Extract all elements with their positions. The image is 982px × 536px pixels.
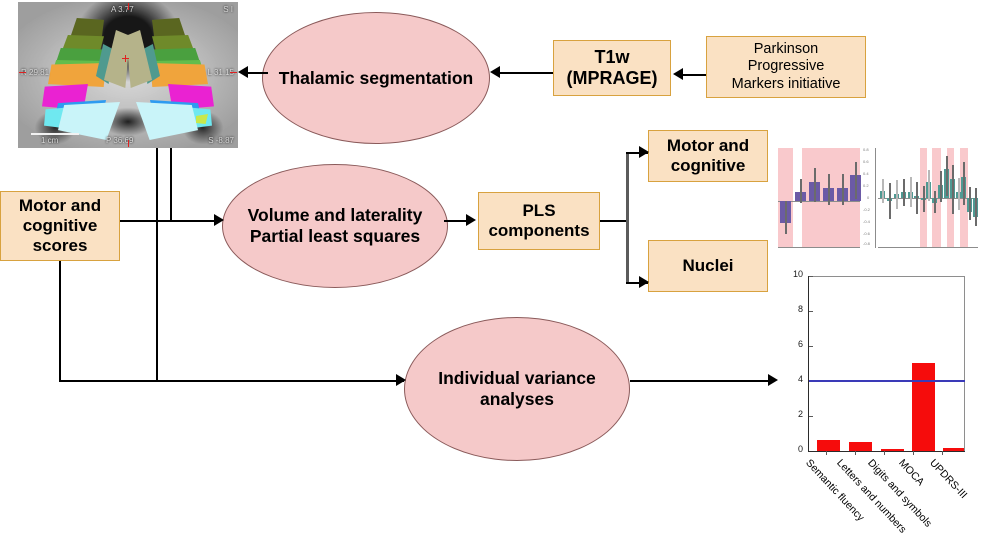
y-tick-label: 6 [783, 339, 803, 349]
ppmi-line-3: Markers initiative [732, 76, 841, 93]
pls-line-1: PLS [488, 201, 589, 221]
variance-bar [912, 363, 935, 451]
error-bar [800, 179, 802, 203]
iva-line-2: analyses [438, 389, 596, 410]
y-tick-mark [809, 276, 813, 277]
arrow-ppmi-to-t1w-line [683, 74, 706, 76]
variance-bar [817, 440, 840, 451]
y-tick-label: -0.8 [863, 241, 870, 246]
y-tick-mark [809, 346, 813, 347]
brain-crosshair-tick [230, 72, 237, 73]
chart-pls-motor-cognitive-loadings [778, 148, 860, 248]
error-bar [946, 156, 948, 196]
mac-line-2: cognitive [667, 156, 749, 176]
y-tick-label: 0.6 [863, 159, 869, 164]
brain-crosshair-marker [125, 55, 126, 62]
arrow-ppmi-to-t1w-head [673, 68, 683, 80]
connector-brain-drop-left [156, 148, 158, 380]
arrow-t1w-to-segmentation-line [500, 72, 553, 74]
nuclei-label: Nuclei [682, 256, 733, 276]
chart-pls-nuclei-loadings: 0.8 0.6 0.4 0.2 0 -0.2 -0.4 -0.6 -0.8 [862, 148, 980, 248]
brain-label-anterior: A 3.77 [111, 5, 134, 14]
workflow-diagram: A 3.77 S I R 29.81 L 31.15 P 36.69 S -8.… [0, 0, 982, 529]
error-bar [842, 174, 844, 205]
error-bar [910, 177, 912, 207]
arrow-scores-to-variance-head [396, 374, 406, 386]
connector-components-split-vertical [626, 152, 629, 283]
error-bar [975, 188, 977, 226]
x-tick-mark [942, 451, 943, 455]
y-tick-label: -0.6 [863, 231, 870, 236]
error-bar [958, 178, 960, 210]
error-bar [923, 186, 925, 212]
arrow-scores-to-pls-line [120, 220, 220, 222]
y-tick-label: 10 [783, 269, 803, 279]
t1w-line-2: (MPRAGE) [567, 68, 658, 89]
node-volume-laterality-pls[interactable]: Volume and laterality Partial least squa… [222, 164, 448, 288]
x-tick-mark [913, 451, 914, 455]
mcs-line-3: scores [19, 236, 101, 256]
arrow-segmentation-to-brain-head [238, 66, 248, 78]
error-bar [934, 191, 936, 213]
mcs-line-2: cognitive [19, 216, 101, 236]
connector-brain-drop-right [170, 148, 172, 221]
vl-line-1: Volume and laterality [248, 205, 423, 226]
mac-line-1: Motor and [667, 136, 749, 156]
x-tick-mark [855, 451, 856, 455]
variance-bar [849, 442, 872, 451]
arrow-variance-to-plot-line [630, 380, 774, 382]
y-tick-label: -0.2 [863, 207, 870, 212]
x-tick-label: MOCA [896, 457, 926, 488]
node-t1w-mprage[interactable]: T1w (MPRAGE) [553, 40, 671, 96]
error-bar [828, 174, 830, 205]
connector-scores-to-variance [59, 380, 404, 382]
y-tick-label: 0 [867, 195, 869, 200]
connector-scores-down [59, 261, 61, 381]
arrow-pls-to-components-head [466, 214, 476, 226]
brain-scale-bar [31, 133, 79, 135]
vl-line-2: Partial least squares [248, 226, 423, 247]
error-bar [814, 168, 816, 202]
x-axis [778, 247, 860, 248]
arrow-t1w-to-segmentation-head [490, 66, 500, 78]
node-thalamic-segmentation[interactable]: Thalamic segmentation [262, 12, 490, 144]
x-tick-mark [826, 451, 827, 455]
error-bar [963, 162, 965, 205]
error-bar [952, 165, 954, 214]
x-tick-label: UPDRS-III [927, 457, 969, 501]
pls-line-2: components [488, 221, 589, 241]
y-tick-label: 0.8 [863, 147, 869, 152]
node-motor-cognitive-scores[interactable]: Motor and cognitive scores [0, 191, 120, 261]
brain-segmentation-image: A 3.77 S I R 29.81 L 31.15 P 36.69 S -8.… [18, 2, 238, 148]
error-bar [928, 170, 930, 201]
x-tick-mark [884, 451, 885, 455]
plot-frame [809, 276, 965, 451]
y-axis [875, 148, 876, 248]
x-axis [878, 247, 978, 248]
error-bar [855, 162, 857, 199]
error-bar [916, 182, 918, 214]
chart-individual-variance-scores: 10 8 6 4 2 0 [808, 276, 965, 452]
variance-bar [881, 449, 904, 451]
connector-components-stem [600, 220, 627, 222]
y-tick-mark [809, 416, 813, 417]
ppmi-line-1: Parkinson [732, 41, 841, 58]
node-individual-variance-analyses[interactable]: Individual variance analyses [404, 317, 630, 461]
arrow-to-nuclei-head [639, 276, 649, 288]
brain-crosshair-tick [128, 3, 129, 10]
thalamic-segmentation-label: Thalamic segmentation [279, 68, 474, 89]
t1w-line-1: T1w [567, 47, 658, 68]
arrow-variance-to-plot-head [768, 374, 778, 386]
y-tick-label: 0 [783, 444, 803, 454]
error-bar [896, 180, 898, 209]
y-tick-label: 0.2 [863, 183, 869, 188]
brain-crosshair-tick [19, 72, 26, 73]
node-motor-and-cognitive[interactable]: Motor and cognitive [648, 130, 768, 182]
variance-bar [943, 448, 964, 451]
error-bar [903, 179, 905, 206]
arrow-scores-to-pls-head [214, 214, 224, 226]
brain-label-scale: 1 cm [41, 136, 58, 145]
error-bar [785, 201, 787, 234]
brain-label-slice: S -8.87 [208, 136, 234, 145]
brain-crosshair-tick [128, 140, 129, 147]
y-tick-label: 2 [783, 409, 803, 419]
significance-threshold-line [809, 380, 965, 382]
error-bar [969, 187, 971, 220]
y-tick-label: 8 [783, 304, 803, 314]
y-tick-label: -0.4 [863, 219, 870, 224]
mcs-line-1: Motor and [19, 196, 101, 216]
node-nuclei[interactable]: Nuclei [648, 240, 768, 292]
error-bar [882, 179, 884, 203]
arrow-to-motor-cognitive-head [639, 146, 649, 158]
error-bar [889, 183, 891, 219]
brain-label-superior-inferior: S I [223, 5, 233, 14]
brain-label-posterior: P 36.69 [106, 136, 133, 145]
iva-line-1: Individual variance [438, 368, 596, 389]
y-tick-mark [809, 311, 813, 312]
node-ppmi-dataset[interactable]: Parkinson Progressive Markers initiative [706, 36, 866, 98]
y-tick-label: 4 [783, 374, 803, 384]
error-bar [940, 171, 942, 202]
ppmi-line-2: Progressive [732, 58, 841, 75]
node-pls-components[interactable]: PLS components [478, 192, 600, 250]
y-tick-label: 0.4 [863, 171, 869, 176]
arrow-segmentation-to-brain-line [248, 72, 268, 74]
